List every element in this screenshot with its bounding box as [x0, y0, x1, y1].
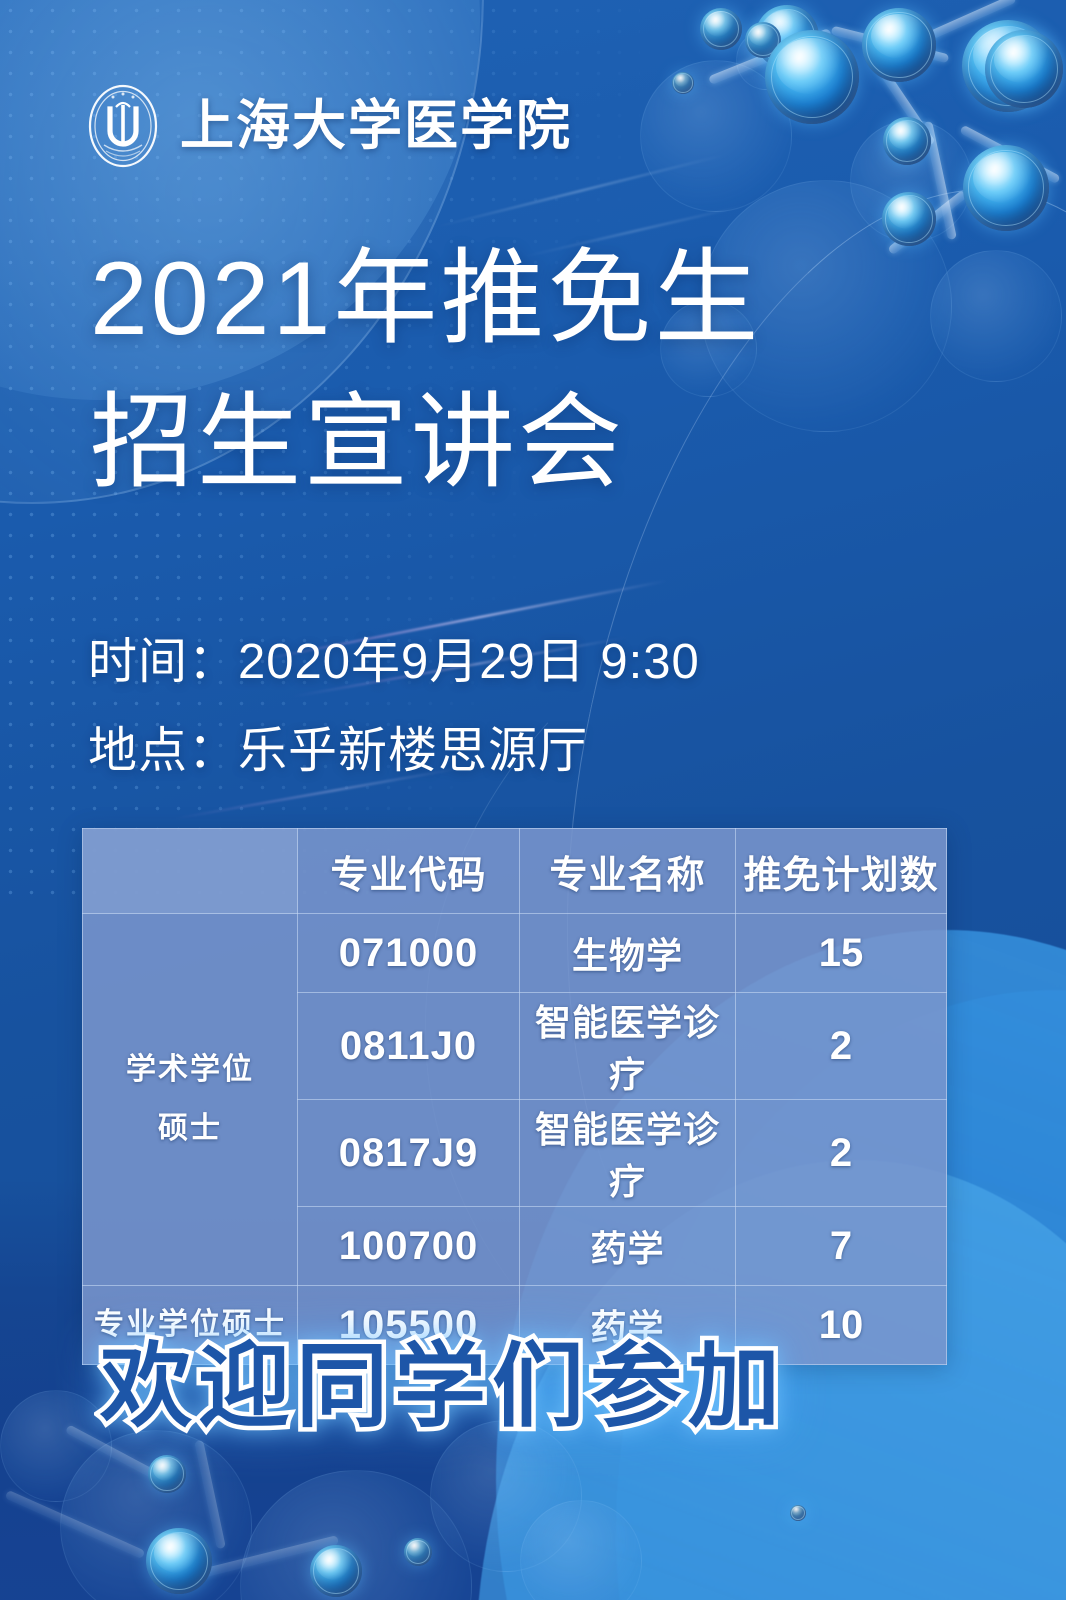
table-header-row: 专业代码 专业名称 推免计划数 [83, 829, 947, 914]
ghost-bubble-1 [640, 60, 792, 212]
molecule-bond-2 [831, 26, 950, 64]
ghost-bubble-8 [240, 1470, 472, 1600]
cell-code: 0811J0 [298, 993, 520, 1100]
poster-root: 上海大学医学院 2021年推免生 招生宣讲会 时间：2020年9月29日 9:3… [0, 0, 1066, 1600]
molecule-sphere-2 [862, 8, 936, 82]
poster-title: 2021年推免生 招生宣讲会 [90, 228, 950, 515]
molecule-bond-1 [708, 28, 832, 85]
recommendation-plan-table: 专业代码 专业名称 推免计划数 学术学位 硕士 071000 [82, 828, 946, 1365]
molecule-sphere-16 [790, 1505, 806, 1521]
cell-quota: 2 [736, 1100, 947, 1207]
molecule-sphere-1 [755, 5, 819, 69]
table-header-code: 专业代码 [298, 829, 520, 914]
category-label-line2: 硕士 [84, 1100, 296, 1159]
molecule-bond-4 [869, 54, 935, 146]
molecule-bond-11 [5, 1490, 146, 1559]
ghost-bubble-7 [60, 1430, 252, 1600]
cell-name: 生物学 [520, 914, 736, 993]
molecule-bond-5 [959, 125, 1060, 185]
ghost-bubble-11 [520, 1500, 642, 1600]
cell-quota: 7 [736, 1207, 947, 1286]
table-header-code-label: 专业代码 [330, 855, 486, 897]
category-label-line1: 学术学位 [84, 1041, 296, 1100]
cell-code: 100700 [298, 1207, 520, 1286]
table-row: 学术学位 硕士 071000 生物学 15 [83, 914, 947, 993]
event-place: 地点：乐乎新楼思源厅 [88, 707, 948, 796]
molecule-sphere-4 [745, 22, 781, 58]
molecule-sphere-3 [962, 20, 1054, 112]
cell-quota: 2 [736, 993, 947, 1100]
cell-code: 0817J9 [298, 1100, 520, 1207]
category-academic-master: 学术学位 硕士 [83, 914, 298, 1286]
molecule-sphere-10 [672, 72, 694, 94]
welcome-slogan: 欢迎同学们参加 [100, 1312, 786, 1445]
molecule-sphere-15 [404, 1538, 432, 1566]
ghost-bubble-4 [850, 120, 972, 242]
molecule-sphere-8 [963, 145, 1049, 231]
title-line-1: 2021年推免生 [90, 228, 950, 372]
molecule-sphere-12 [148, 1455, 186, 1493]
school-name: 上海大学医学院 [180, 99, 572, 153]
molecule-sphere-5 [765, 30, 859, 124]
molecule-sphere-13 [146, 1528, 212, 1594]
molecule-sphere-6 [985, 30, 1063, 108]
molecule-bond-6 [923, 121, 957, 240]
cell-quota: 15 [736, 914, 947, 993]
molecule-bond-9 [194, 1440, 226, 1549]
table-header-name: 专业名称 [520, 829, 736, 914]
cell-name: 智能医学诊疗 [520, 1100, 736, 1207]
shanghai-university-seal-logo [86, 83, 160, 169]
event-info: 时间：2020年9月29日 9:30 地点：乐乎新楼思源厅 [88, 618, 948, 796]
molecule-sphere-14 [310, 1545, 362, 1597]
molecule-sphere-7 [883, 117, 931, 165]
cell-code: 071000 [298, 914, 520, 993]
ghost-bubble-10 [0, 1390, 112, 1502]
title-line-2: 招生宣讲会 [90, 372, 950, 516]
ghost-bubble-2 [736, 30, 796, 90]
poster-header: 上海大学医学院 [86, 83, 572, 169]
table-header-name-label: 专业名称 [549, 855, 705, 897]
cell-name: 药学 [520, 1207, 736, 1286]
table-header-corner [83, 829, 298, 914]
event-time: 时间：2020年9月29日 9:30 [88, 618, 948, 707]
table-header-quota-label: 推免计划数 [743, 855, 938, 897]
table-header-quota: 推免计划数 [736, 829, 947, 914]
molecule-bond-10 [201, 1535, 339, 1578]
molecule-bond-3 [903, 0, 1016, 51]
cell-name: 智能医学诊疗 [520, 993, 736, 1100]
molecule-sphere-9 [700, 8, 742, 50]
